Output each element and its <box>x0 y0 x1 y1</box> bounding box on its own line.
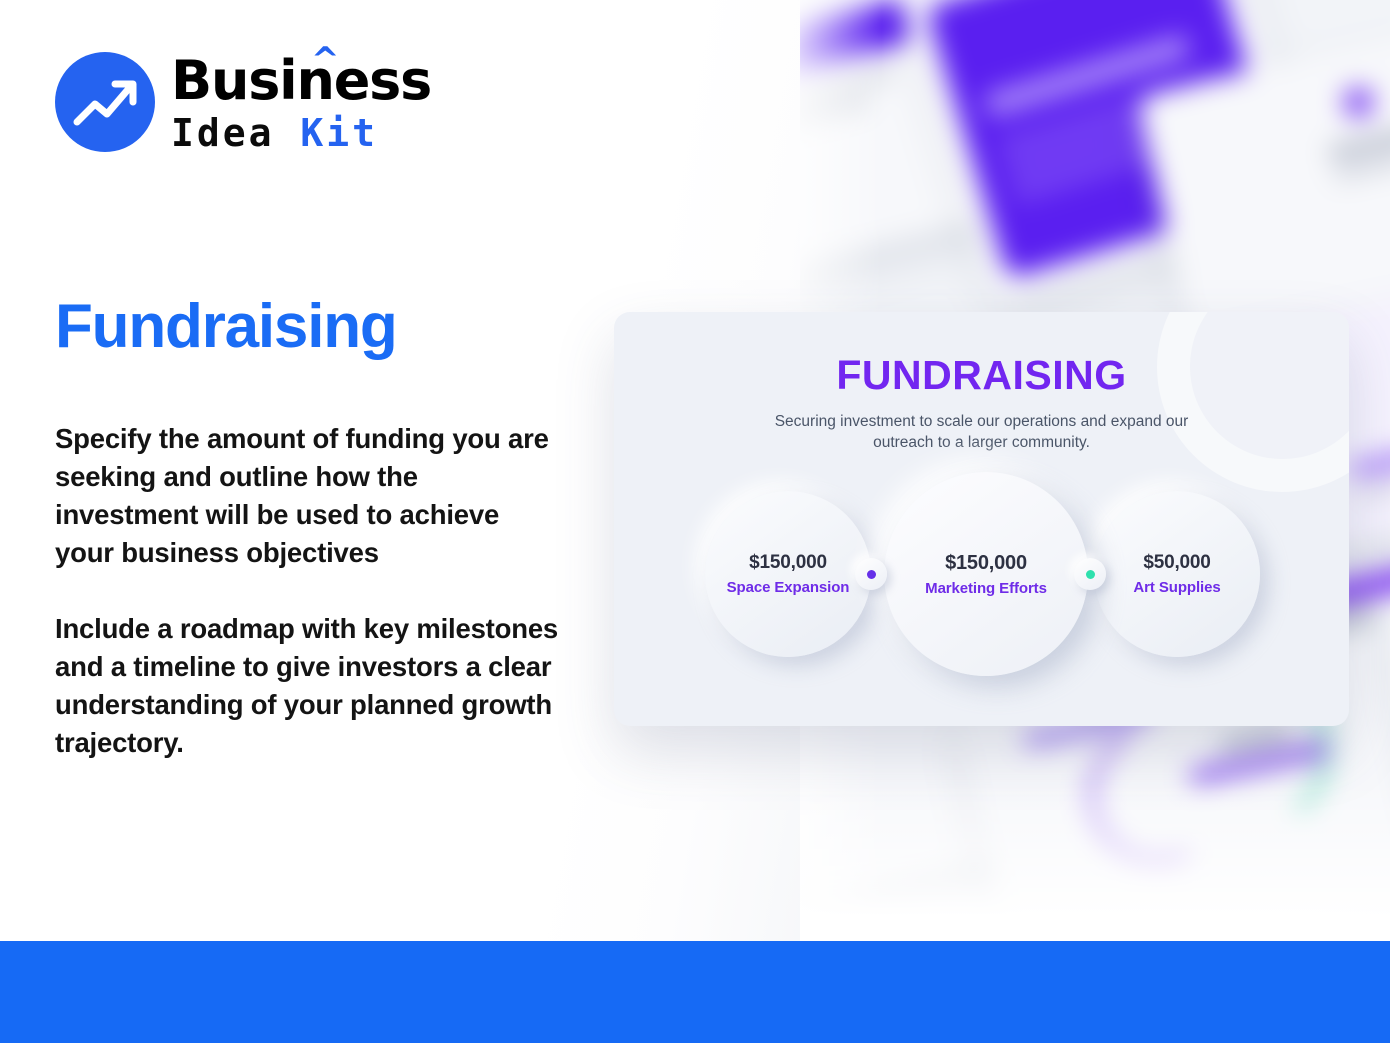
brand-name-line2: Idea Kit <box>171 114 431 152</box>
funding-circle-cluster: $150,000 Space Expansion <box>614 472 1349 702</box>
connector-node-left <box>855 558 887 590</box>
funding-label: Space Expansion <box>727 579 850 596</box>
funding-amount: $150,000 <box>749 552 827 574</box>
brand-hat-accent-icon: ^ <box>311 43 338 77</box>
brand-name-idea: Idea <box>171 111 275 155</box>
page-title: Fundraising <box>55 296 397 358</box>
growth-chart-arrow-icon <box>55 52 155 152</box>
brand-name-kit: Kit <box>300 111 378 155</box>
teal-dot-icon <box>1086 570 1095 579</box>
card-title: FUNDRAISING <box>614 352 1349 399</box>
funding-circle-center[interactable]: $150,000 Marketing Efforts <box>884 472 1088 676</box>
body-paragraph-1: Specify the amount of funding you are se… <box>55 420 565 572</box>
funding-circle-right[interactable]: $50,000 Art Supplies <box>1094 491 1260 657</box>
card-subtitle: Securing investment to scale our operati… <box>772 411 1192 453</box>
photo-bottom-fade <box>792 781 1390 941</box>
brand-name-line1: Business ^ <box>171 54 431 108</box>
footer-bar <box>0 941 1390 1043</box>
funding-amount: $150,000 <box>945 552 1027 575</box>
body-paragraph-2: Include a roadmap with key milestones an… <box>55 610 565 762</box>
connector-node-right <box>1074 558 1106 590</box>
brand-wordmark: Business ^ Idea Kit <box>171 52 431 152</box>
funding-circle-left[interactable]: $150,000 Space Expansion <box>705 491 871 657</box>
fundraising-infographic-card: FUNDRAISING Securing investment to scale… <box>614 312 1349 726</box>
funding-amount: $50,000 <box>1143 552 1210 574</box>
funding-label: Marketing Efforts <box>925 580 1047 597</box>
purple-dot-icon <box>867 570 876 579</box>
funding-label: Art Supplies <box>1133 579 1220 596</box>
brand-name-text: Business <box>171 49 431 112</box>
brand-logo: Business ^ Idea Kit <box>55 52 431 152</box>
slide-page: Business ^ Idea Kit Fundraising Specify … <box>0 0 1390 1043</box>
